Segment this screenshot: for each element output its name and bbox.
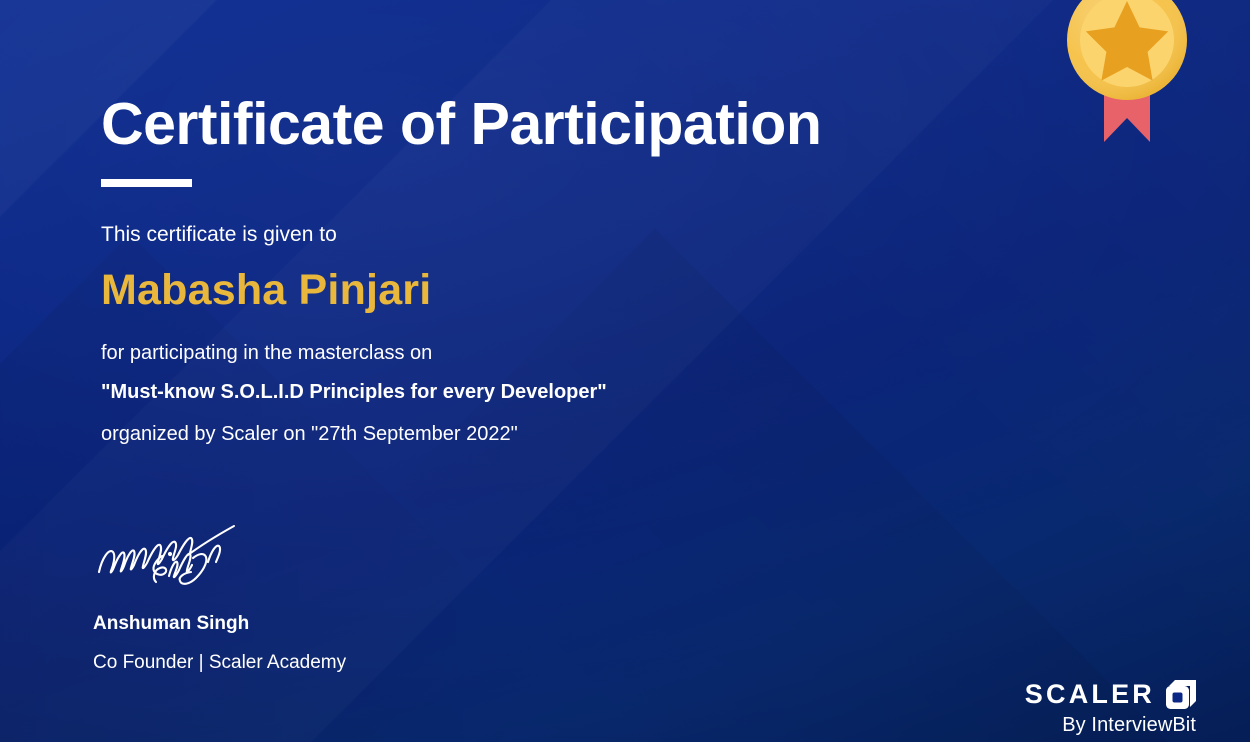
brand-wordmark-row: SCALER bbox=[1025, 680, 1196, 709]
brand-wordmark: SCALER bbox=[1025, 681, 1155, 708]
signer-role: Co Founder | Scaler Academy bbox=[93, 652, 346, 674]
certificate-canvas: Certificate of Participation This certif… bbox=[0, 0, 1250, 742]
given-to-label: This certificate is given to bbox=[101, 223, 337, 247]
brand-tagline: By InterviewBit bbox=[1025, 714, 1196, 736]
title-underline-rule bbox=[101, 179, 192, 187]
course-title-line: "Must-know S.O.L.I.D Principles for ever… bbox=[101, 381, 607, 404]
signer-name: Anshuman Singh bbox=[93, 613, 249, 635]
scaler-brand-lockup: SCALER By InterviewBit bbox=[1025, 680, 1196, 736]
scaler-cube-icon bbox=[1166, 680, 1196, 709]
handwritten-signature-icon bbox=[92, 510, 262, 590]
participation-reason-line: for participating in the masterclass on bbox=[101, 342, 432, 365]
award-medal-star-icon bbox=[1066, 0, 1188, 164]
page-title: Certificate of Participation bbox=[101, 95, 821, 154]
recipient-name: Mabasha Pinjari bbox=[101, 266, 431, 315]
organizer-date-line: organized by Scaler on "27th September 2… bbox=[101, 423, 518, 446]
